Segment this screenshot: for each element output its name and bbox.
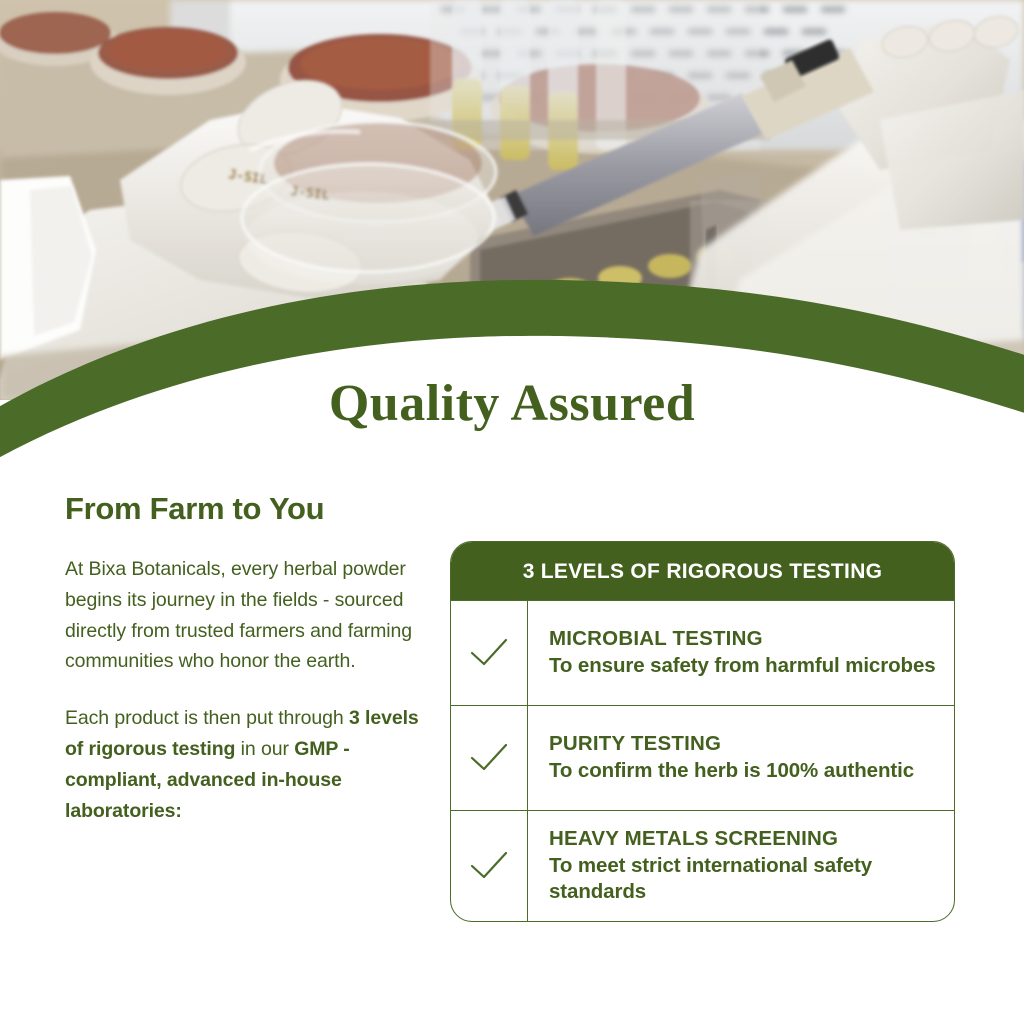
- intro-paragraph: At Bixa Botanicals, every herbal powder …: [65, 554, 433, 677]
- row-title: PURITY TESTING: [549, 732, 938, 757]
- row-title: HEAVY METALS SCREENING: [549, 827, 938, 852]
- row-text: PURITY TESTING To confirm the herb is 10…: [528, 706, 954, 810]
- table-row: PURITY TESTING To confirm the herb is 10…: [451, 705, 954, 810]
- lab-photo-illustration: J-SIL J-SIL: [0, 0, 1024, 400]
- row-text: MICROBIAL TESTING To ensure safety from …: [528, 601, 954, 705]
- check-cell: [451, 811, 528, 921]
- check-cell: [451, 706, 528, 810]
- testing-paragraph-part2: in our: [235, 738, 294, 760]
- row-description: To confirm the herb is 100% authentic: [549, 758, 938, 784]
- testing-levels-card: 3 LEVELS OF RIGOROUS TESTING MICROBIAL T…: [450, 541, 955, 922]
- row-title: MICROBIAL TESTING: [549, 627, 938, 652]
- lab-photo-banner: J-SIL J-SIL: [0, 0, 1024, 400]
- check-icon: [468, 636, 510, 670]
- check-icon: [468, 741, 510, 775]
- table-row: MICROBIAL TESTING To ensure safety from …: [451, 600, 954, 705]
- quality-assured-poster: J-SIL J-SIL Quality Assured From Farm to…: [0, 0, 1024, 1024]
- row-text: HEAVY METALS SCREENING To meet strict in…: [528, 811, 954, 921]
- table-row: HEAVY METALS SCREENING To meet strict in…: [451, 810, 954, 921]
- from-farm-column: From Farm to You At Bixa Botanicals, eve…: [65, 492, 433, 826]
- testing-paragraph-part1: Each product is then put through: [65, 707, 349, 729]
- row-description: To ensure safety from harmful microbes: [549, 653, 938, 679]
- row-description: To meet strict international safety stan…: [549, 853, 938, 905]
- testing-paragraph: Each product is then put through 3 level…: [65, 703, 433, 826]
- check-cell: [451, 601, 528, 705]
- section-heading: From Farm to You: [65, 492, 433, 526]
- card-header-title: 3 LEVELS OF RIGOROUS TESTING: [451, 542, 954, 600]
- page-title: Quality Assured: [0, 374, 1024, 433]
- check-icon: [468, 849, 510, 883]
